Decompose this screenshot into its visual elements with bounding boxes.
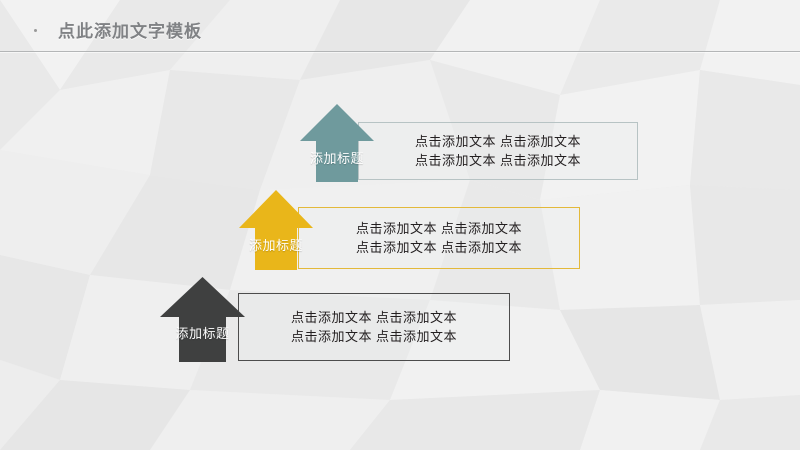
text-line: 点击添加文本 点击添加文本 — [239, 327, 509, 346]
text-box-3[interactable]: 点击添加文本 点击添加文本 点击添加文本 点击添加文本 — [238, 293, 510, 361]
header-divider-highlight — [0, 52, 800, 53]
slide-canvas: 点此添加文字模板 点击添加文本 点击添加文本 点击添加文本 点击添加文本 添加标… — [0, 0, 800, 450]
text-box-3-body: 点击添加文本 点击添加文本 点击添加文本 点击添加文本 — [239, 308, 509, 346]
page-title: 点此添加文字模板 — [58, 17, 202, 42]
slide-header: 点此添加文字模板 — [0, 0, 800, 53]
text-line: 点击添加文本 点击添加文本 — [239, 308, 509, 327]
house-arrow-icon — [160, 277, 245, 362]
arrow-label-3: 添加标题 — [160, 323, 245, 342]
content-row-3: 点击添加文本 点击添加文本 点击添加文本 点击添加文本 添加标题 — [0, 0, 800, 450]
arrow-shape-3[interactable]: 添加标题 — [160, 277, 245, 362]
title-bullet-icon — [34, 29, 37, 32]
